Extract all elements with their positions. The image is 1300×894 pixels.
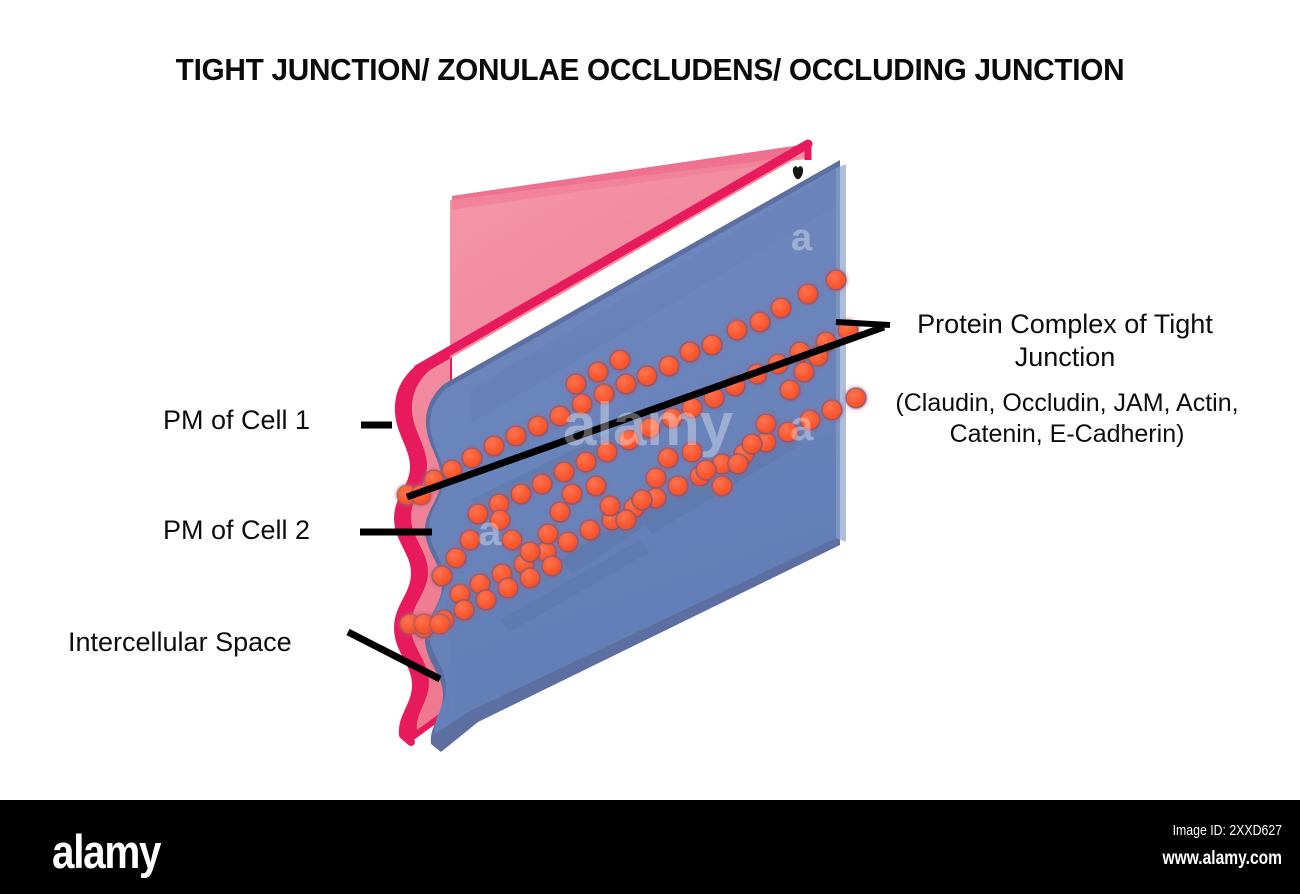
watermark-a-right: a bbox=[790, 402, 814, 449]
label-pm-of-cell-2: PM of Cell 2 bbox=[163, 515, 310, 546]
alamy-logo: alamy bbox=[52, 824, 160, 879]
artist-mark bbox=[793, 166, 803, 179]
label-intercellular-space: Intercellular Space bbox=[68, 627, 292, 658]
watermark-alamy-center: alamy bbox=[563, 391, 734, 458]
watermark-a-top: a bbox=[791, 217, 813, 259]
diagram-page: TIGHT JUNCTION/ ZONULAE OCCLUDENS/ OCCLU… bbox=[0, 0, 1300, 894]
alamy-footer-bar: alamy Image ID: 2XXD627 www.alamy.com bbox=[0, 800, 1300, 894]
watermark-a-left: a bbox=[478, 507, 502, 554]
footer-image-id: Image ID: 2XXD627 bbox=[1069, 822, 1282, 839]
label-pm-of-cell-1: PM of Cell 1 bbox=[163, 405, 310, 436]
label-protein-complex-of-tight-junction: Protein Complex of Tight Junction bbox=[905, 308, 1225, 374]
footer-website-url: www.alamy.com bbox=[1069, 848, 1282, 870]
label-protein-complex-components: (Claudin, Occludin, JAM, Actin, Catenin,… bbox=[866, 388, 1268, 450]
leader-line-protein-complex-fork bbox=[836, 322, 890, 325]
